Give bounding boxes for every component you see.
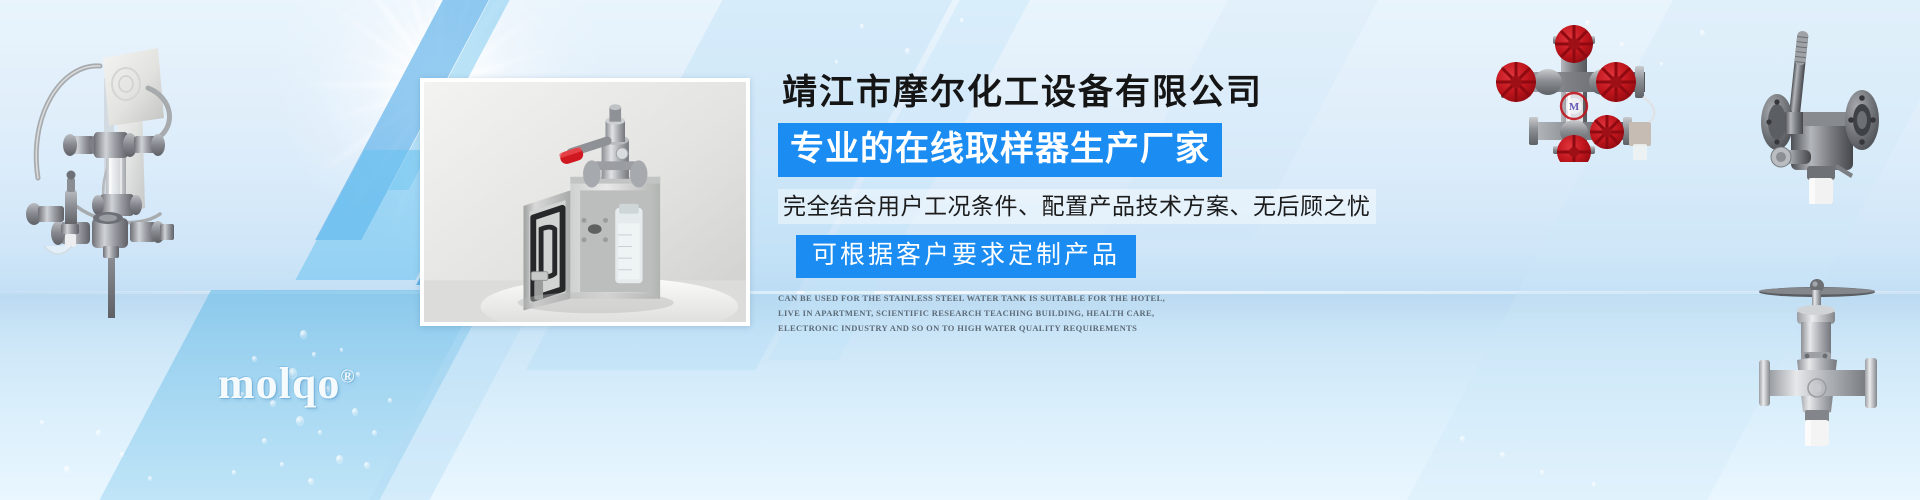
water-droplet: [308, 478, 314, 485]
water-droplet: [364, 462, 370, 469]
english-description: CAN BE USED FOR THE STAINLESS STEEL WATE…: [778, 291, 1178, 336]
water-droplet: [372, 430, 377, 436]
water-droplet: [280, 462, 284, 467]
water-droplet: [905, 48, 910, 54]
sampling-valve-assembly-image: [8, 18, 198, 318]
molqo-watermark-logo: molqo®: [218, 362, 355, 406]
water-droplet: [860, 24, 864, 29]
water-droplet: [336, 455, 343, 464]
gate-valve-image: [1755, 272, 1905, 447]
water-droplet: [262, 438, 267, 444]
water-droplet: [148, 476, 152, 481]
product-photo: [420, 78, 750, 326]
callout-badge: 可根据客户要求定制产品: [796, 235, 1136, 278]
water-droplet: [312, 352, 316, 357]
water-droplet: [300, 330, 307, 339]
water-droplet: [835, 60, 838, 64]
water-droplet: [40, 420, 44, 425]
promo-banner: 靖江市摩尔化工设备有限公司 专业的在线取样器生产厂家 完全结合用户工况条件、配置…: [0, 0, 1920, 500]
water-droplet: [232, 470, 236, 475]
lever-valve-image: [1745, 14, 1910, 204]
company-name: 靖江市摩尔化工设备有限公司: [778, 72, 1398, 114]
water-droplet: [318, 430, 322, 435]
water-droplet: [340, 348, 343, 352]
water-droplet: [64, 466, 70, 473]
water-droplet: [1700, 30, 1705, 36]
registered-mark: ®: [340, 366, 354, 387]
water-droplet: [356, 372, 360, 377]
water-droplet: [388, 398, 392, 403]
water-droplet: [352, 408, 358, 416]
water-droplet: [296, 416, 304, 426]
water-droplet: [1500, 452, 1505, 458]
subline: 完全结合用户工况条件、配置产品技术方案、无后顾之忧: [778, 189, 1376, 224]
water-droplet: [1460, 436, 1465, 442]
water-droplet: [960, 18, 964, 23]
banner-text-block: 靖江市摩尔化工设备有限公司 专业的在线取样器生产厂家 完全结合用户工况条件、配置…: [778, 72, 1398, 335]
water-droplet: [1540, 470, 1544, 475]
water-droplet: [96, 430, 101, 436]
cross-valve-manifold-image: M: [1483, 22, 1673, 162]
logo-text: molqo: [218, 359, 340, 408]
water-droplet: [1592, 482, 1596, 487]
water-droplet: [120, 452, 124, 457]
svg-text:M: M: [1569, 101, 1580, 113]
headline: 专业的在线取样器生产厂家: [778, 123, 1222, 177]
